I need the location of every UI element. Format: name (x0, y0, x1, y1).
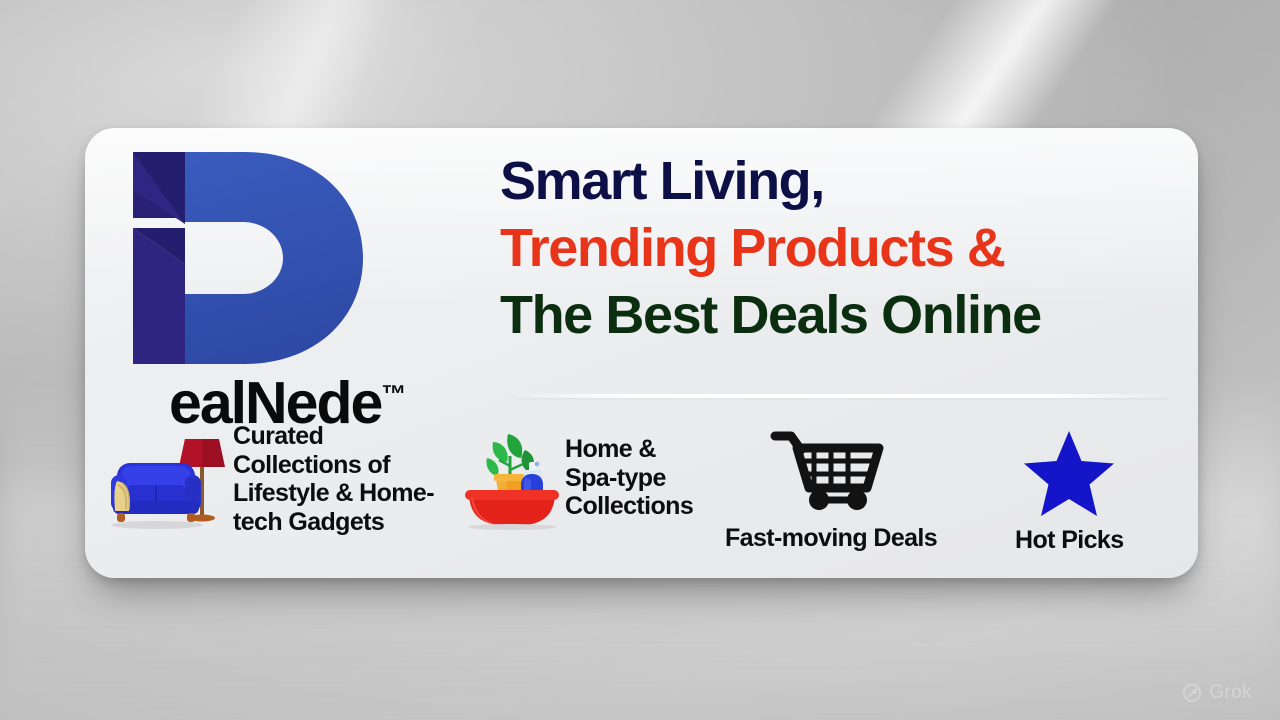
feature-row: Curated Collections of Lifestyle & Home-… (85, 420, 1198, 560)
feature-label: Home & Spa-type Collections (565, 435, 700, 521)
banner-image: ealNede™ Smart Living, Trending Products… (0, 0, 1280, 720)
feature-item-hot-picks: Hot Picks (1015, 428, 1124, 555)
grok-watermark: Grok (1182, 682, 1252, 704)
brand-logo-block: ealNede™ (127, 146, 487, 446)
basin-plant-spray-icon (463, 426, 559, 530)
shopping-cart-icon (769, 428, 887, 510)
dealnede-d-logo (127, 146, 377, 371)
headline-line-2: Trending Products & (500, 215, 1165, 282)
promo-banner-card: ealNede™ Smart Living, Trending Products… (85, 128, 1198, 578)
grok-watermark-label: Grok (1209, 682, 1252, 704)
feature-label: Curated Collections of Lifestyle & Home-… (233, 422, 438, 536)
feature-item-curated-collections: Curated Collections of Lifestyle & Home-… (105, 422, 438, 536)
star-icon (1021, 428, 1117, 510)
headline-line-1: Smart Living, (500, 148, 1165, 215)
trademark-symbol: ™ (381, 380, 406, 408)
feature-item-home-spa: Home & Spa-type Collections (463, 426, 700, 530)
feature-item-fast-moving-deals: Fast-moving Deals (725, 428, 937, 553)
feature-label: Fast-moving Deals (725, 524, 937, 553)
grok-circle-icon (1182, 683, 1202, 703)
headline-block: Smart Living, Trending Products & The Be… (500, 148, 1165, 349)
section-divider (515, 394, 1170, 398)
feature-label: Hot Picks (1015, 526, 1124, 555)
headline-line-3: The Best Deals Online (500, 282, 1165, 349)
sofa-lamp-icon (105, 425, 229, 533)
